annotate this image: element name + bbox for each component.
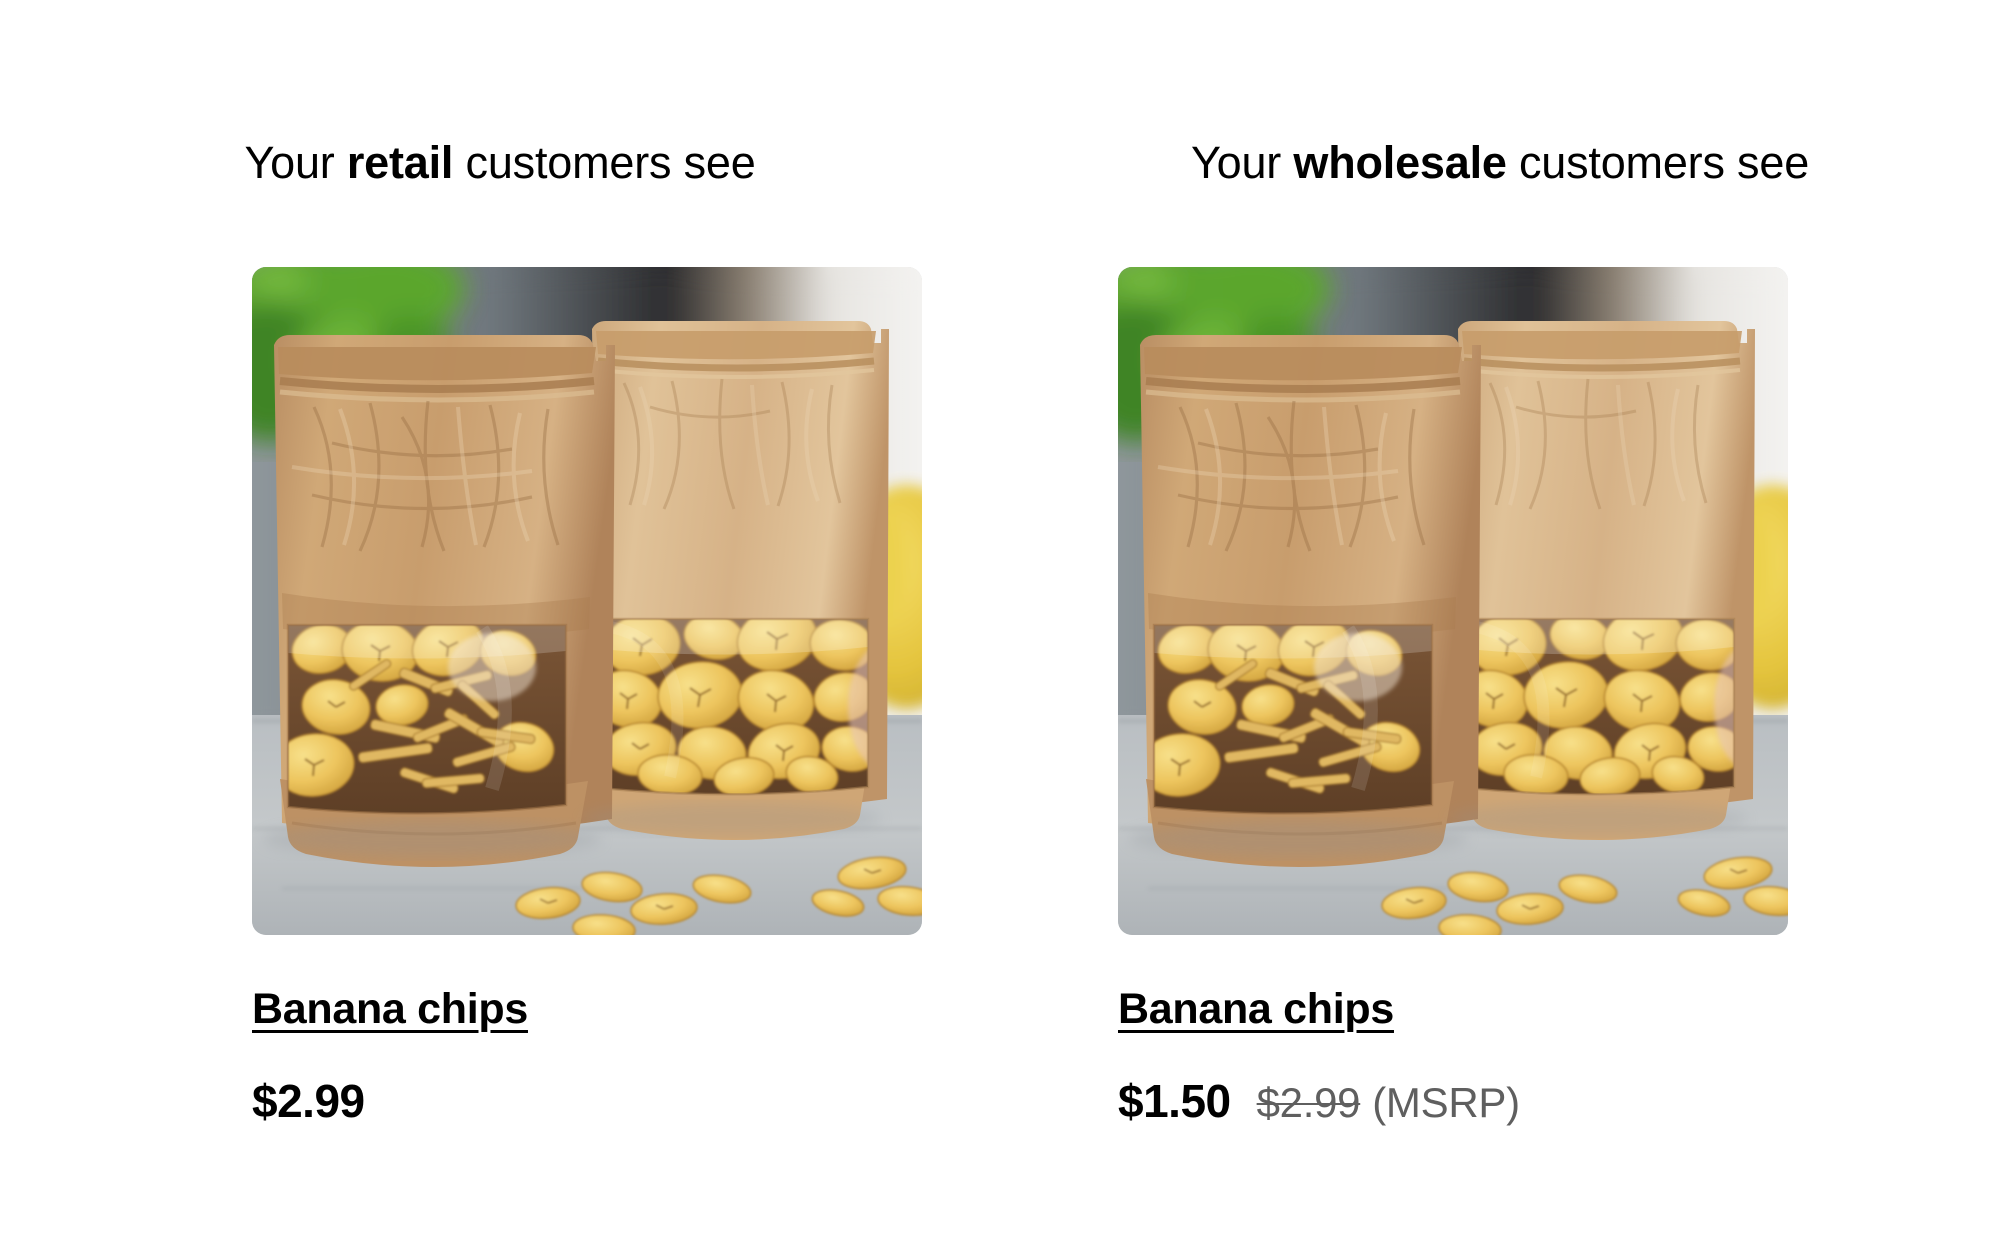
retail-column: Your retail customers see: [0, 0, 1000, 1250]
retail-product-title-link[interactable]: Banana chips: [252, 985, 528, 1034]
retail-wholesale-comparison-grid: Your retail customers see: [0, 0, 2000, 1250]
wholesale-product-title-link[interactable]: Banana chips: [1118, 985, 1394, 1034]
wholesale-heading-suffix: customers see: [1507, 137, 1809, 188]
wholesale-product-card[interactable]: Banana chips $1.50 $2.99 (MSRP): [1118, 267, 1788, 1128]
wholesale-column-heading: Your wholesale customers see: [1000, 140, 2000, 185]
wholesale-msrp-label: (MSRP): [1372, 1079, 1520, 1127]
wholesale-price-current: $1.50: [1118, 1074, 1231, 1128]
wholesale-heading-prefix: Your: [1191, 137, 1293, 188]
wholesale-price-compare-at: $2.99: [1257, 1079, 1361, 1127]
product-photo-icon: [252, 267, 922, 935]
retail-heading-strong: retail: [347, 137, 453, 188]
wholesale-heading-strong: wholesale: [1293, 137, 1506, 188]
retail-heading-prefix: Your: [244, 137, 346, 188]
wholesale-price-row: $1.50 $2.99 (MSRP): [1118, 1074, 1788, 1128]
retail-product-card[interactable]: Banana chips $2.99: [252, 267, 922, 1128]
retail-column-heading: Your retail customers see: [0, 140, 1000, 185]
wholesale-column: Your wholesale customers see: [1000, 0, 2000, 1250]
retail-price-row: $2.99: [252, 1074, 922, 1128]
comparison-page: Your retail customers see: [0, 0, 2000, 1250]
retail-product-image[interactable]: [252, 267, 922, 935]
wholesale-product-image[interactable]: [1118, 267, 1788, 935]
retail-heading-suffix: customers see: [453, 137, 755, 188]
product-photo-icon: [1118, 267, 1788, 935]
retail-price-current: $2.99: [252, 1074, 365, 1128]
